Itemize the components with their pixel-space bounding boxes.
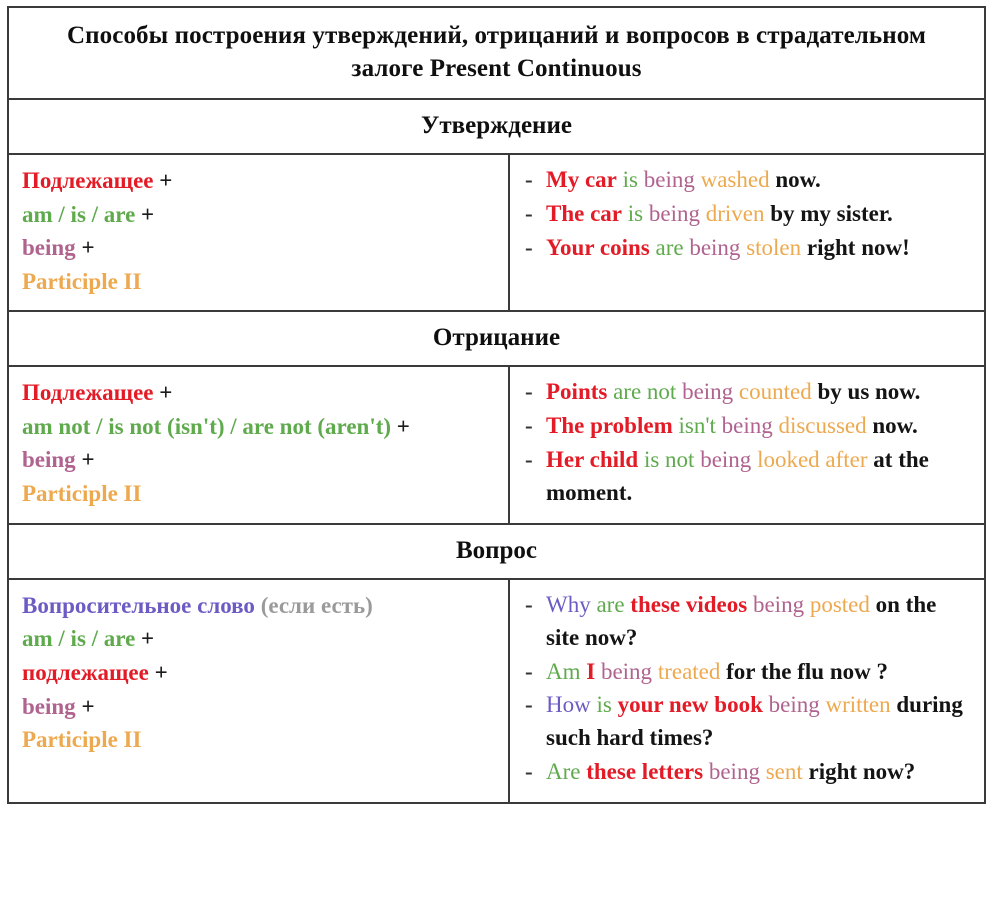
example-list: -Why are these videos being posted on th…	[524, 589, 974, 789]
example-segment-being: being	[643, 201, 700, 226]
formula-line: am / is / are +	[22, 622, 498, 656]
formula-segment-plus: +	[154, 168, 173, 193]
formula-cell: Вопросительное слово (если есть)am / is …	[8, 579, 509, 803]
formula-segment-hint: (если есть)	[255, 593, 373, 618]
formula-segment-plus: +	[76, 235, 95, 260]
example-segment-participle: written	[820, 692, 891, 717]
formula-line: being +	[22, 443, 498, 477]
bullet-dash: -	[525, 198, 533, 231]
example-segment-question_word: How	[546, 692, 591, 717]
section-heading: Отрицание	[8, 311, 985, 366]
formula-segment-being: being	[22, 235, 76, 260]
list-item: -How is your new book being written duri…	[524, 689, 974, 755]
example-segment-auxiliary: are not	[607, 379, 676, 404]
example-segment-auxiliary: Am	[546, 659, 581, 684]
example-segment-participle: looked after	[751, 447, 867, 472]
formula-segment-subject: Подлежащее	[22, 380, 154, 405]
example-segment-plain: right now!	[801, 235, 910, 260]
list-item: -Her child is not being looked after at …	[524, 444, 974, 510]
bullet-dash: -	[525, 689, 533, 722]
example-segment-subject: The problem	[546, 413, 673, 438]
formula-segment-being: being	[22, 694, 76, 719]
bullet-dash: -	[525, 164, 533, 197]
example-segment-plain: right now?	[803, 759, 915, 784]
formula-segment-being: being	[22, 447, 76, 472]
example-segment-auxiliary: are	[591, 592, 625, 617]
example-segment-participle: driven	[700, 201, 765, 226]
formula-line: Participle II	[22, 477, 498, 511]
example-segment-plain: for the flu now ?	[720, 659, 888, 684]
list-item: -Why are these videos being posted on th…	[524, 589, 974, 655]
formula-line: Подлежащее +	[22, 376, 498, 410]
example-segment-plain: by us now.	[812, 379, 921, 404]
example-segment-subject: The car	[546, 201, 622, 226]
formula-line: Participle II	[22, 265, 498, 299]
example-list: -Points are not being counted by us now.…	[524, 376, 974, 510]
example-segment-being: being	[703, 759, 760, 784]
examples-cell: -Why are these videos being posted on th…	[509, 579, 985, 803]
list-item: -The car is being driven by my sister.	[524, 198, 974, 231]
example-segment-subject: My car	[546, 167, 617, 192]
formula-segment-participle: Participle II	[22, 269, 141, 294]
formula-segment-plus: +	[135, 626, 154, 651]
example-segment-participle: counted	[733, 379, 812, 404]
example-segment-auxiliary: are	[650, 235, 684, 260]
formula-segment-plus: +	[135, 202, 154, 227]
example-segment-subject: Her child	[546, 447, 638, 472]
formula-segment-plus: +	[391, 414, 410, 439]
list-item: -Are these letters being sent right now?	[524, 756, 974, 789]
section-heading-row: Отрицание	[8, 311, 985, 366]
section-heading: Утверждение	[8, 99, 985, 154]
formula-segment-plus: +	[76, 447, 95, 472]
example-segment-participle: posted	[804, 592, 870, 617]
section-content-row: Подлежащее +am not / is not (isn't) / ar…	[8, 366, 985, 524]
example-segment-subject: these letters	[580, 759, 703, 784]
list-item: -Points are not being counted by us now.	[524, 376, 974, 409]
example-segment-auxiliary: is	[617, 167, 638, 192]
example-segment-subject: these videos	[625, 592, 748, 617]
example-segment-being: being	[638, 167, 695, 192]
formula-segment-subject: Подлежащее	[22, 168, 154, 193]
example-segment-plain: now.	[867, 413, 918, 438]
example-segment-auxiliary: Are	[546, 759, 580, 784]
example-segment-auxiliary: is not	[638, 447, 694, 472]
bullet-dash: -	[525, 410, 533, 443]
formula-line: Подлежащее +	[22, 164, 498, 198]
formula-segment-plus: +	[149, 660, 168, 685]
example-segment-auxiliary: is	[622, 201, 643, 226]
example-segment-participle: sent	[760, 759, 803, 784]
example-list: -My car is being washed now.-The car is …	[524, 164, 974, 265]
formula-segment-participle: Participle II	[22, 727, 141, 752]
bullet-dash: -	[525, 376, 533, 409]
example-segment-participle: stolen	[740, 235, 801, 260]
example-segment-being: being	[595, 659, 652, 684]
formula-line: am / is / are +	[22, 198, 498, 232]
example-segment-plain: by my sister.	[764, 201, 892, 226]
example-segment-subject: I	[581, 659, 596, 684]
formula-line: Participle II	[22, 723, 498, 757]
example-segment-being: being	[763, 692, 820, 717]
example-segment-question_word: Why	[546, 592, 591, 617]
example-segment-participle: discussed	[773, 413, 867, 438]
formula-segment-subject: подлежащее	[22, 660, 149, 685]
section-heading-row: Утверждение	[8, 99, 985, 154]
page-title: Способы построения утверждений, отрицани…	[8, 7, 985, 99]
formula-line: подлежащее +	[22, 656, 498, 690]
example-segment-participle: washed	[695, 167, 770, 192]
formula-segment-auxiliary: am / is / are	[22, 202, 135, 227]
list-item: -Am I being treated for the flu now ?	[524, 656, 974, 689]
formula-cell: Подлежащее +am not / is not (isn't) / ar…	[8, 366, 509, 524]
list-item: -My car is being washed now.	[524, 164, 974, 197]
formula-segment-auxiliary: am not / is not (isn't) / are not (aren'…	[22, 414, 391, 439]
formula-cell: Подлежащее +am / is / are +being +Partic…	[8, 154, 509, 311]
bullet-dash: -	[525, 444, 533, 477]
section-content-row: Вопросительное слово (если есть)am / is …	[8, 579, 985, 803]
section-heading-row: Вопрос	[8, 524, 985, 579]
example-segment-subject: your new book	[612, 692, 763, 717]
list-item: -Your coins are being stolen right now!	[524, 232, 974, 265]
formula-line: Вопросительное слово (если есть)	[22, 589, 498, 623]
example-segment-being: being	[694, 447, 751, 472]
section-heading: Вопрос	[8, 524, 985, 579]
example-segment-plain: now.	[770, 167, 821, 192]
example-segment-being: being	[747, 592, 804, 617]
examples-cell: -Points are not being counted by us now.…	[509, 366, 985, 524]
bullet-dash: -	[525, 656, 533, 689]
example-segment-auxiliary: isn't	[673, 413, 716, 438]
examples-cell: -My car is being washed now.-The car is …	[509, 154, 985, 311]
example-segment-participle: treated	[652, 659, 720, 684]
example-segment-being: being	[676, 379, 733, 404]
formula-line: being +	[22, 690, 498, 724]
bullet-dash: -	[525, 232, 533, 265]
grammar-sheet: Способы построения утверждений, отрицани…	[0, 0, 991, 914]
formula-segment-plus: +	[154, 380, 173, 405]
grammar-table: Способы построения утверждений, отрицани…	[7, 6, 986, 804]
example-segment-being: being	[716, 413, 773, 438]
formula-line: am not / is not (isn't) / are not (aren'…	[22, 410, 498, 444]
bullet-dash: -	[525, 589, 533, 622]
example-segment-subject: Your coins	[546, 235, 650, 260]
example-segment-being: being	[684, 235, 741, 260]
grammar-table-body: Способы построения утверждений, отрицани…	[8, 7, 985, 803]
bullet-dash: -	[525, 756, 533, 789]
formula-segment-plus: +	[76, 694, 95, 719]
formula-segment-participle: Participle II	[22, 481, 141, 506]
formula-segment-auxiliary: am / is / are	[22, 626, 135, 651]
example-segment-subject: Points	[546, 379, 607, 404]
example-segment-auxiliary: is	[591, 692, 612, 717]
formula-line: being +	[22, 231, 498, 265]
formula-segment-question_word: Вопросительное слово	[22, 593, 255, 618]
title-row: Способы построения утверждений, отрицани…	[8, 7, 985, 99]
list-item: -The problem isn't being discussed now.	[524, 410, 974, 443]
section-content-row: Подлежащее +am / is / are +being +Partic…	[8, 154, 985, 311]
